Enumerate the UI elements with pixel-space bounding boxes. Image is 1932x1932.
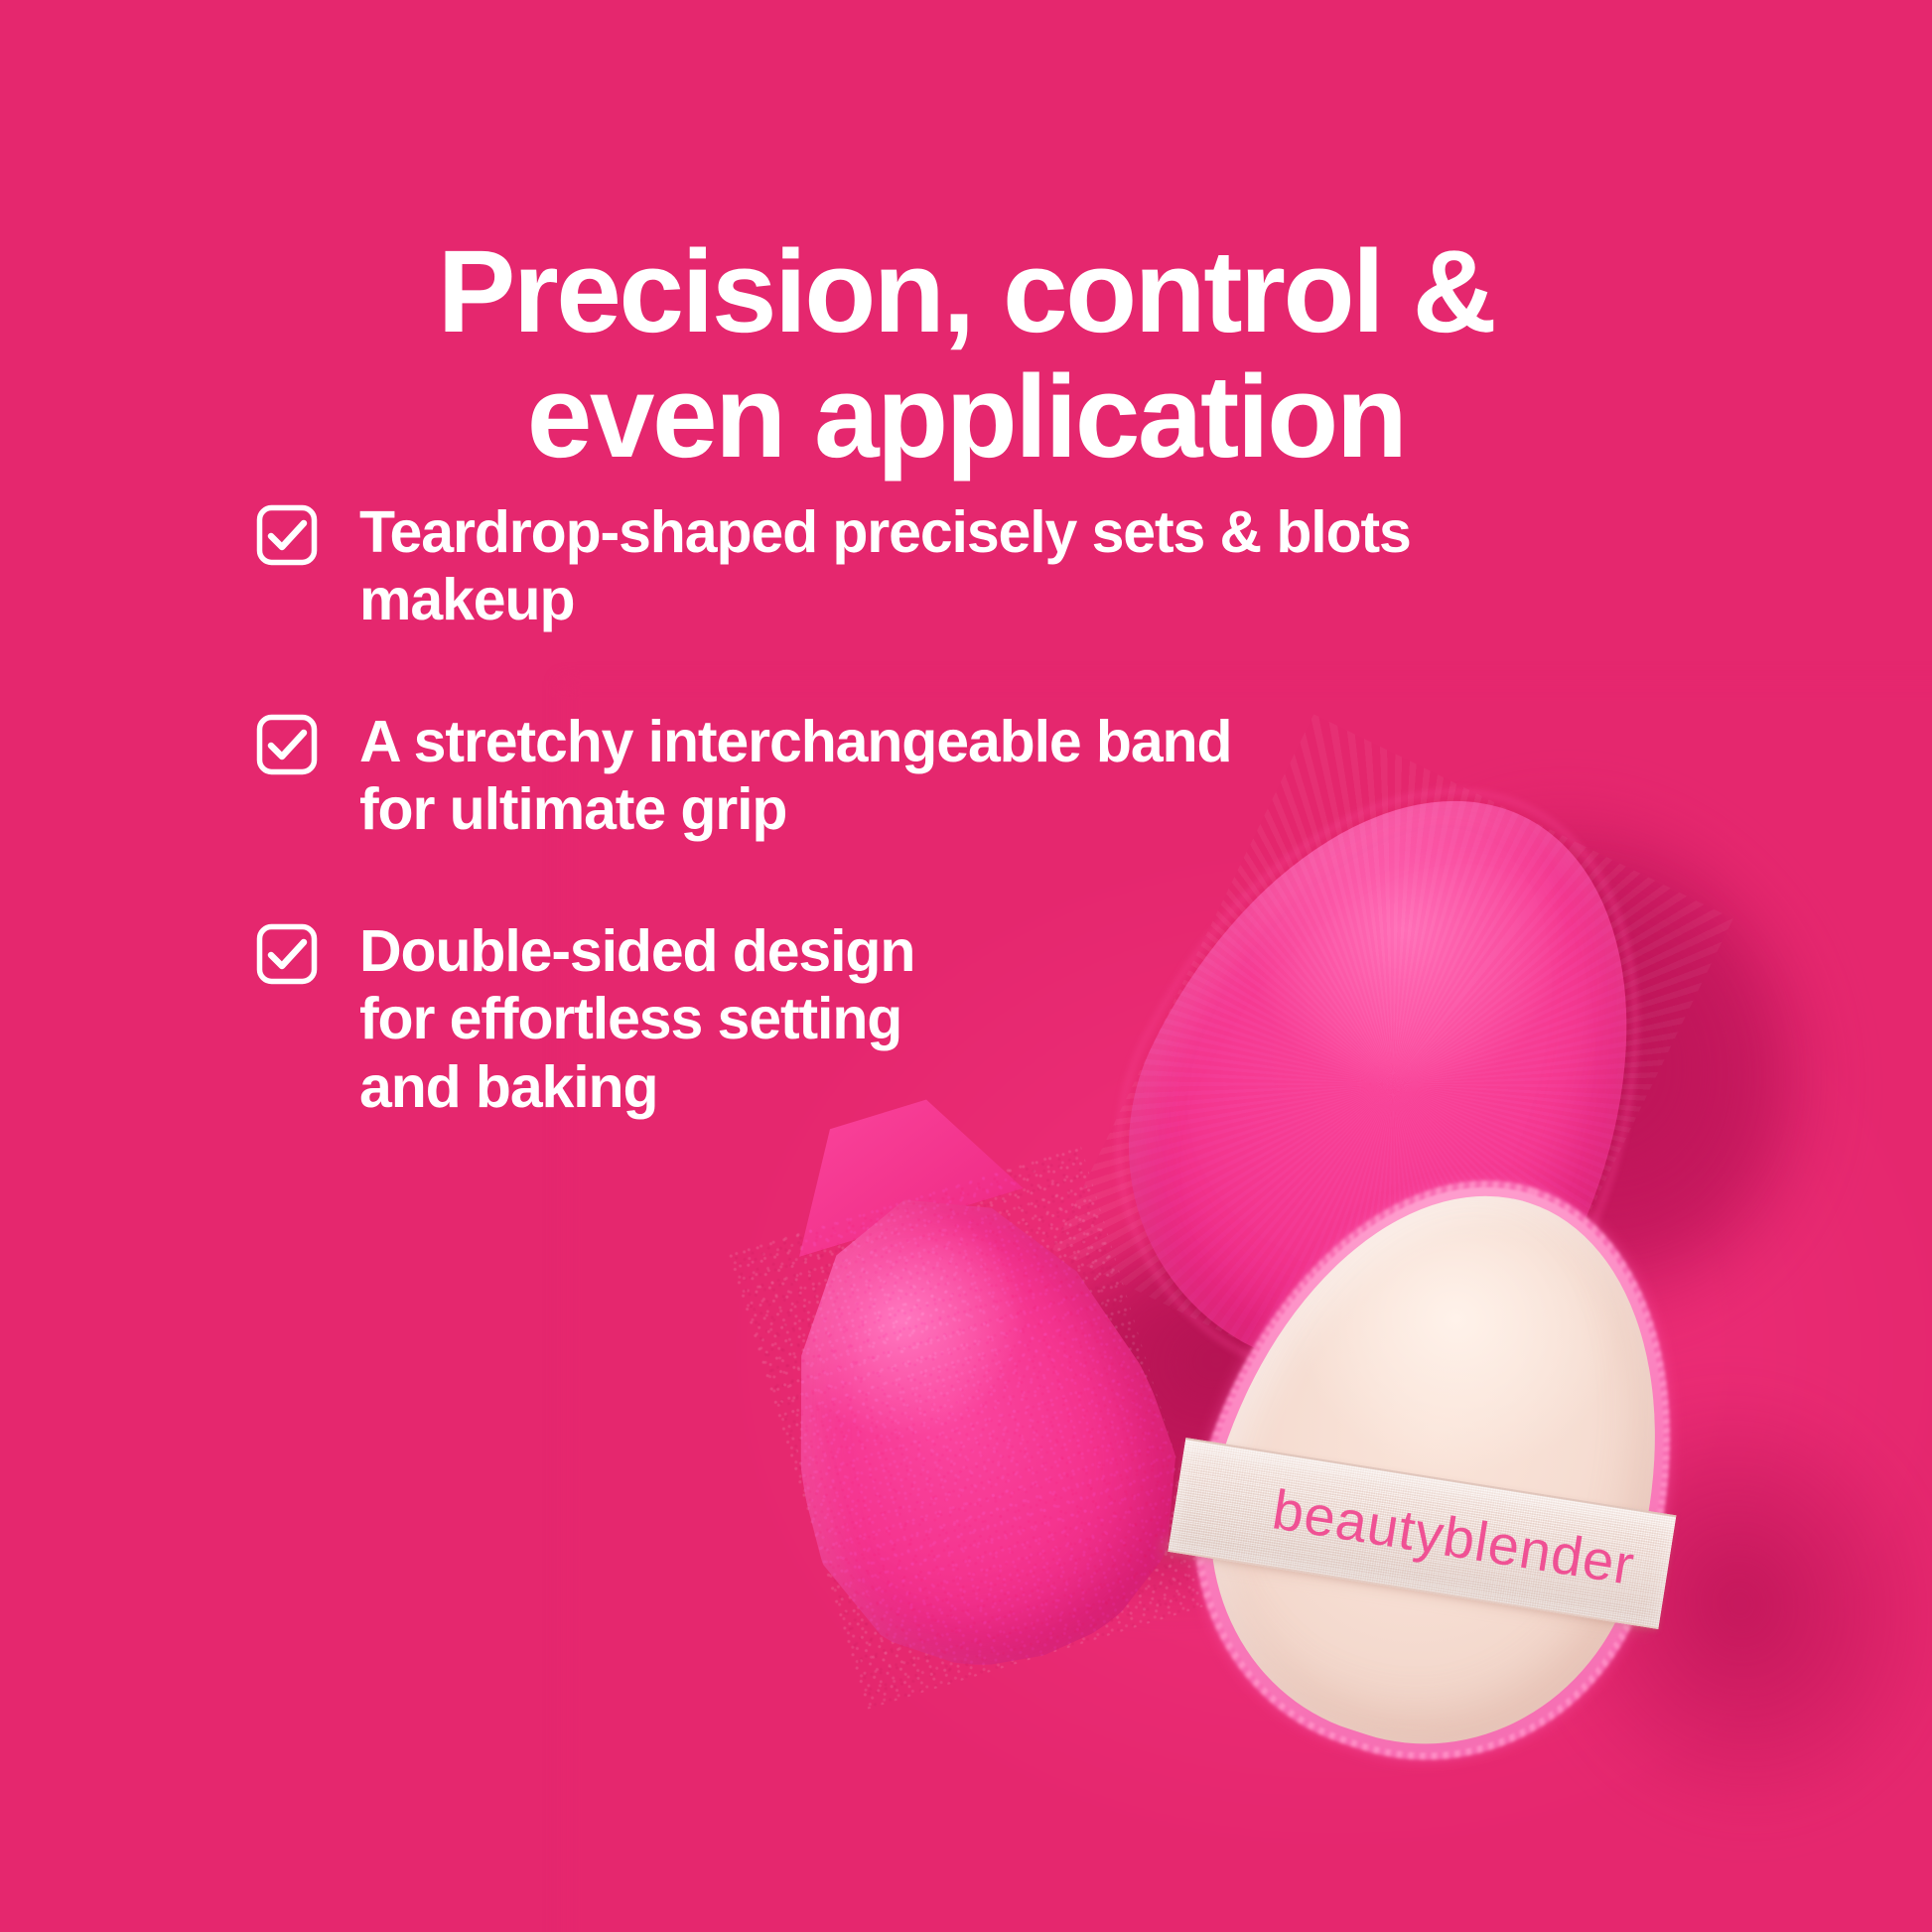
- ad-canvas: beautyblender Precision, control & even …: [0, 0, 1932, 1932]
- page-title: Precision, control & even application: [0, 229, 1932, 481]
- feature-text: Double-sided design for effortless setti…: [359, 917, 914, 1121]
- checkbox-checked-icon: [256, 923, 318, 985]
- list-item: Double-sided design for effortless setti…: [256, 917, 1557, 1121]
- feature-text-line: makeup: [359, 566, 1411, 633]
- list-item: Teardrop-shaped precisely sets & blots m…: [256, 498, 1557, 634]
- checkbox-checked-icon: [256, 504, 318, 566]
- feature-text: A stretchy interchangeable band for ulti…: [359, 708, 1231, 844]
- copy-layer: Precision, control & even application Te…: [0, 0, 1932, 1932]
- feature-text-line: and baking: [359, 1053, 914, 1121]
- headline-line-2: even application: [159, 354, 1773, 480]
- feature-text-line: Double-sided design: [359, 917, 914, 985]
- feature-text: Teardrop-shaped precisely sets & blots m…: [359, 498, 1411, 634]
- feature-text-line: Teardrop-shaped precisely sets & blots: [359, 498, 1411, 566]
- feature-list: Teardrop-shaped precisely sets & blots m…: [256, 498, 1557, 1121]
- checkbox-checked-icon: [256, 714, 318, 775]
- list-item: A stretchy interchangeable band for ulti…: [256, 708, 1557, 844]
- headline-line-1: Precision, control &: [159, 229, 1773, 354]
- feature-text-line: A stretchy interchangeable band: [359, 708, 1231, 775]
- feature-text-line: for effortless setting: [359, 985, 914, 1052]
- feature-text-line: for ultimate grip: [359, 775, 1231, 843]
